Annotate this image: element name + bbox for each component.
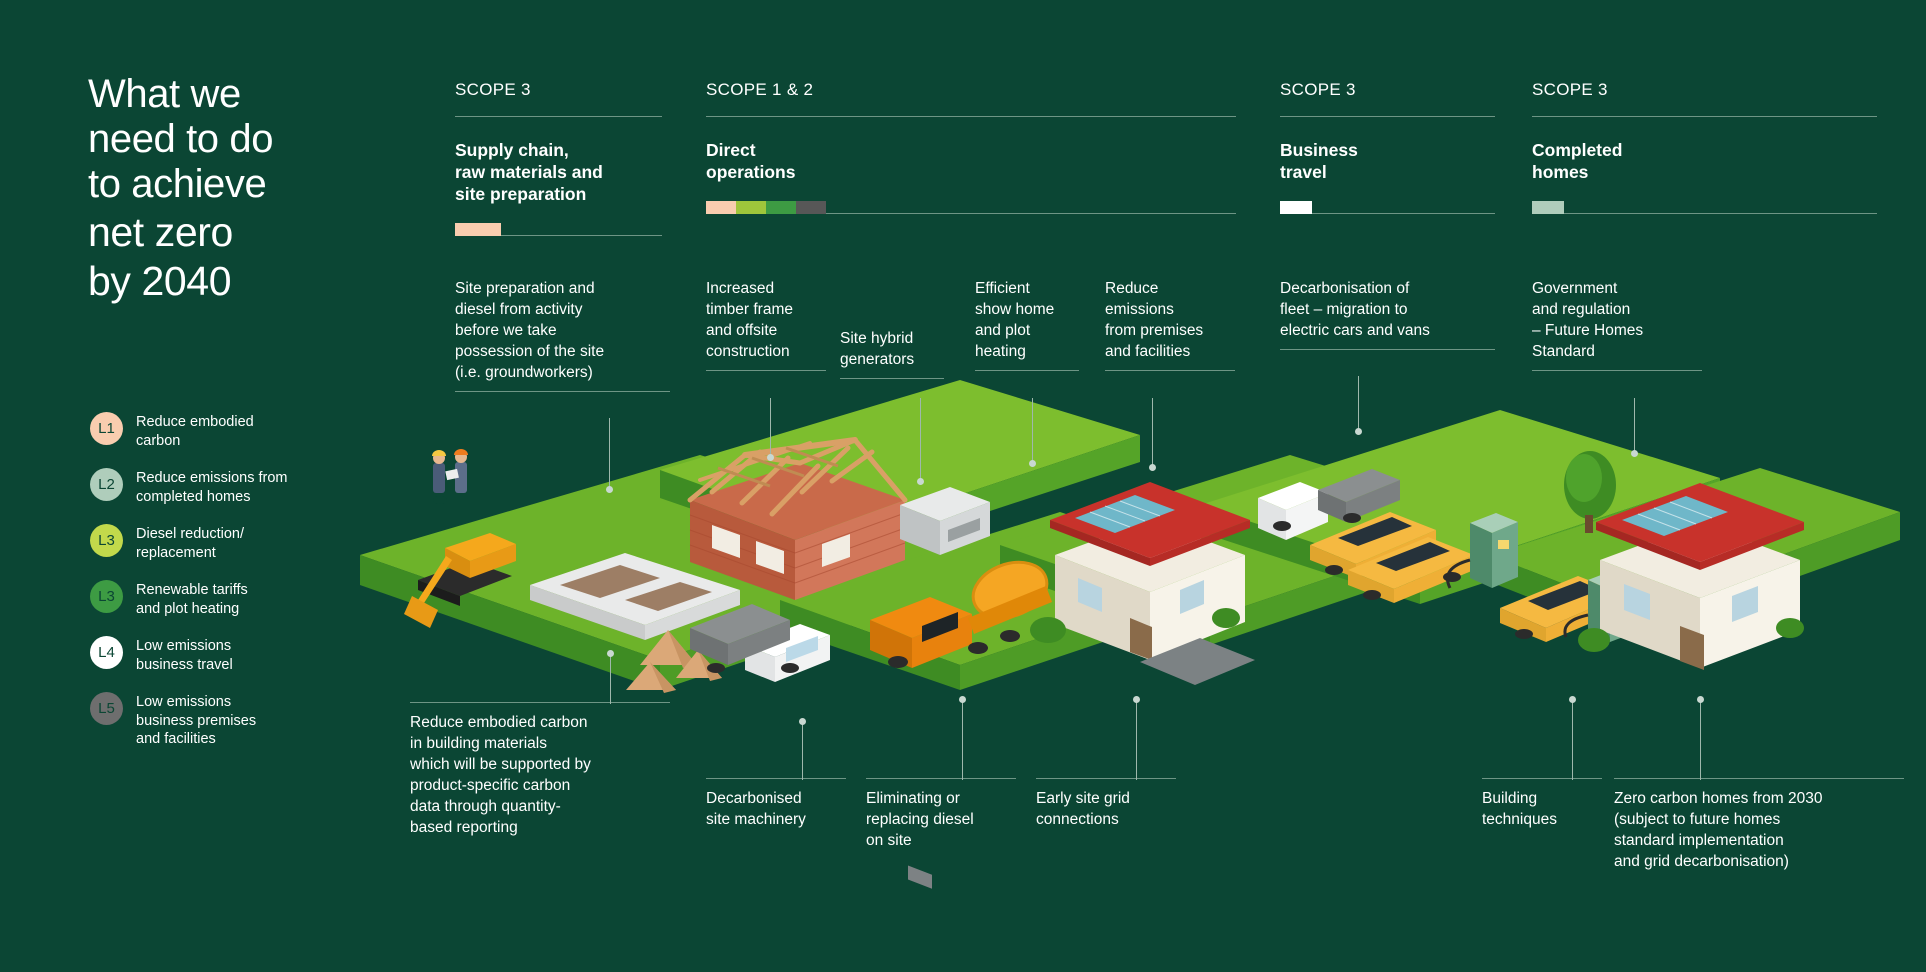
ev-charging-scene	[1258, 469, 1636, 972]
bar-segment-2	[766, 201, 796, 214]
leader-line-timber-frame	[770, 398, 771, 458]
bar-segment-0	[706, 201, 736, 214]
tipper-truck	[690, 604, 830, 682]
divider	[455, 391, 670, 392]
column-title: Businesstravel	[1280, 139, 1495, 183]
legend-item-l4-4: L4Low emissionsbusiness travel	[90, 636, 350, 674]
legend-item-l5-5: L5Low emissionsbusiness premisesand faci…	[90, 692, 350, 749]
leader-line-future-homes	[1634, 398, 1635, 454]
leader-dot	[607, 650, 614, 657]
annotation-text: Increasedtimber frameand offsiteconstruc…	[706, 278, 826, 362]
legend-item-l1-0: L1Reduce embodiedcarbon	[90, 412, 350, 450]
title-line-1: What we	[88, 72, 388, 117]
annotation-text: Eliminating orreplacing dieselon site	[866, 788, 1016, 851]
legend-label: Low emissionsbusiness travel	[136, 636, 233, 674]
level-bar	[1280, 201, 1495, 214]
title-line-3: to achieve	[88, 162, 388, 207]
legend-label: Renewable tariffsand plot heating	[136, 580, 248, 618]
leader-dot	[1149, 464, 1156, 471]
leader-dot	[1631, 450, 1638, 457]
timber-frame-house	[690, 440, 905, 600]
annotation-text: Site hybridgenerators	[840, 328, 944, 370]
annotation-premises: Reduceemissionsfrom premisesand faciliti…	[1105, 278, 1235, 371]
leader-line-site-preparation	[609, 418, 610, 490]
annotation-fleet: Decarbonisation offleet – migration toel…	[1280, 278, 1495, 350]
column-title: Directoperations	[706, 139, 1236, 183]
annotation-show-home: Efficientshow homeand plotheating	[975, 278, 1079, 371]
divider	[706, 116, 1236, 117]
leader-line-building-techniques	[1572, 700, 1573, 780]
annotation-text: Buildingtechniques	[1482, 788, 1602, 830]
leader-line-zero-carbon	[1700, 700, 1701, 780]
level-bar	[1532, 201, 1877, 214]
divider	[455, 116, 662, 117]
site-workers	[432, 449, 468, 504]
column-header-supply-chain: SCOPE 3 Supply chain,raw materials andsi…	[455, 80, 662, 236]
annotation-future-homes: Governmentand regulation– Future HomesSt…	[1532, 278, 1702, 371]
bar-segments	[455, 223, 501, 236]
annotation-building-techniques: Buildingtechniques	[1482, 778, 1602, 830]
leader-dot	[767, 454, 774, 461]
legend-label: Diesel reduction/replacement	[136, 524, 244, 562]
divider	[975, 370, 1079, 371]
bar-segment-0	[1532, 201, 1564, 214]
sand-piles	[626, 630, 722, 693]
ground-platforms	[360, 380, 1900, 690]
column-header-business-travel: SCOPE 3 Businesstravel	[1280, 80, 1495, 214]
annotation-zero-carbon: Zero carbon homes from 2030(subject to f…	[1614, 778, 1904, 872]
column-header-completed-homes: SCOPE 3 Completedhomes	[1532, 80, 1877, 214]
infographic-root: What we need to do to achieve net zero b…	[0, 0, 1926, 972]
annotation-text: Governmentand regulation– Future HomesSt…	[1532, 278, 1702, 362]
annotation-decarbonised-machinery: Decarbonisedsite machinery	[706, 778, 846, 830]
divider	[840, 378, 944, 379]
leader-line-premises	[1152, 398, 1153, 468]
bar-segment-0	[1280, 201, 1312, 214]
legend-badge-l5: L5	[90, 692, 123, 725]
annotation-timber-frame: Increasedtimber frameand offsiteconstruc…	[706, 278, 826, 371]
column-title: Supply chain,raw materials andsite prepa…	[455, 139, 662, 205]
legend-label: Reduce emissions fromcompleted homes	[136, 468, 288, 506]
page-title: What we need to do to achieve net zero b…	[88, 72, 388, 305]
annotation-site-preparation: Site preparation anddiesel from activity…	[455, 278, 670, 392]
legend-label: Reduce embodiedcarbon	[136, 412, 254, 450]
leader-dot	[1029, 460, 1036, 467]
leader-dot	[1697, 696, 1704, 703]
bar-baseline	[1532, 213, 1877, 214]
column-header-direct-operations: SCOPE 1 & 2 Directoperations	[706, 80, 1236, 214]
divider	[410, 702, 670, 703]
annotation-text: Site preparation anddiesel from activity…	[455, 278, 670, 383]
divider	[1105, 370, 1235, 371]
legend-item-l3-2: L3Diesel reduction/replacement	[90, 524, 350, 562]
bar-baseline	[1280, 213, 1495, 214]
leader-line-show-home	[1032, 398, 1033, 464]
annotation-site-hybrid: Site hybridgenerators	[840, 328, 944, 379]
scope-label: SCOPE 1 & 2	[706, 80, 1236, 100]
divider	[1280, 349, 1495, 350]
title-line-4: net zero	[88, 209, 388, 256]
divider	[866, 778, 1016, 779]
bar-segment-0	[455, 223, 501, 236]
leader-dot	[1133, 696, 1140, 703]
leader-dot	[1569, 696, 1576, 703]
divider	[1532, 370, 1702, 371]
leader-line-site-hybrid	[920, 398, 921, 482]
divider	[1482, 778, 1602, 779]
scope-label: SCOPE 3	[1532, 80, 1877, 100]
divider	[1280, 116, 1495, 117]
divider	[706, 370, 826, 371]
level-bar	[706, 201, 1236, 214]
legend-badge-l1: L1	[90, 412, 123, 445]
scope-label: SCOPE 3	[455, 80, 662, 100]
column-title: Completedhomes	[1532, 139, 1877, 183]
house-with-solar-panels	[1030, 482, 1255, 685]
foundation-slab	[530, 553, 740, 640]
annotation-grid-connections: Early site gridconnections	[1036, 778, 1176, 830]
excavator-icon	[404, 533, 516, 628]
divider	[1036, 778, 1176, 779]
leader-dot	[799, 718, 806, 725]
legend: L1Reduce embodiedcarbonL2Reduce emission…	[90, 412, 350, 767]
annotation-eliminating-diesel: Eliminating orreplacing dieselon site	[866, 778, 1016, 851]
annotation-text: Decarbonisation offleet – migration toel…	[1280, 278, 1495, 341]
scope-label: SCOPE 3	[1280, 80, 1495, 100]
leader-dot	[959, 696, 966, 703]
level-bar	[455, 223, 662, 236]
legend-badge-l3: L3	[90, 524, 123, 557]
legend-item-l3-3: L3Renewable tariffsand plot heating	[90, 580, 350, 618]
leader-dot	[917, 478, 924, 485]
bar-segment-3	[796, 201, 826, 214]
annotation-embodied-carbon: Reduce embodied carbonin building materi…	[410, 702, 670, 838]
legend-badge-l3: L3	[90, 580, 123, 613]
leader-line-eliminating-diesel	[962, 700, 963, 780]
divider	[1614, 778, 1904, 779]
bar-segments	[1280, 201, 1312, 214]
legend-badge-l2: L2	[90, 468, 123, 501]
cement-mixer-truck	[870, 553, 1055, 668]
bar-segments	[1532, 201, 1564, 214]
title-line-2: need to do	[88, 117, 388, 162]
title-line-5: by 2040	[88, 258, 388, 305]
divider	[1532, 116, 1877, 117]
legend-item-l2-1: L2Reduce emissions fromcompleted homes	[90, 468, 350, 506]
annotation-text: Reduceemissionsfrom premisesand faciliti…	[1105, 278, 1235, 362]
completed-home	[1578, 483, 1804, 670]
annotation-text: Efficientshow homeand plotheating	[975, 278, 1079, 362]
legend-label: Low emissionsbusiness premisesand facili…	[136, 692, 256, 749]
annotation-text: Reduce embodied carbonin building materi…	[410, 712, 670, 838]
annotation-text: Zero carbon homes from 2030(subject to f…	[1614, 788, 1904, 872]
bar-segments	[706, 201, 826, 214]
leader-line-decarbonised-machinery	[802, 722, 803, 780]
legend-badge-l4: L4	[90, 636, 123, 669]
leader-line-fleet	[1358, 376, 1359, 432]
leader-dot	[1355, 428, 1362, 435]
leader-line-grid-connections	[1136, 700, 1137, 780]
annotation-text: Decarbonisedsite machinery	[706, 788, 846, 830]
leader-dot	[606, 486, 613, 493]
annotation-text: Early site gridconnections	[1036, 788, 1176, 830]
leader-line-embodied-carbon	[610, 654, 611, 704]
bar-segment-1	[736, 201, 766, 214]
trees	[1564, 451, 1719, 564]
divider	[706, 778, 846, 779]
